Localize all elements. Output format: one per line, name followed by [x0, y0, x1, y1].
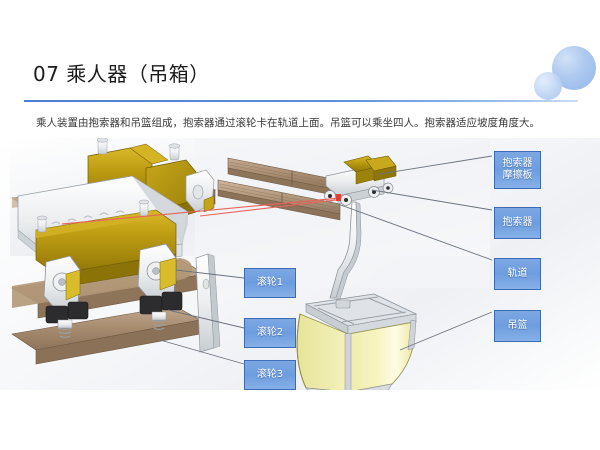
callout-roller-1[interactable]: 滚轮1 — [244, 268, 296, 298]
callout-roller-2[interactable]: 滚轮2 — [244, 318, 296, 348]
callout-cabin-label: 吊篮 — [508, 320, 528, 332]
slide-root: 07 乘人器（吊箱） 乘人装置由抱索器和吊篮组成，抱索器通过滚轮卡在轨道上面。吊… — [0, 0, 600, 450]
callout-grip[interactable]: 抱索器 — [494, 207, 541, 239]
callout-roller-3-label: 滚轮3 — [257, 369, 283, 381]
callout-grip-friction-plate[interactable]: 抱索器 摩擦板 — [494, 151, 541, 189]
cabin — [297, 294, 416, 390]
callout-roller-3[interactable]: 滚轮3 — [244, 360, 296, 390]
callout-grip-friction-plate-label-2: 摩擦板 — [503, 170, 533, 182]
callout-cabin[interactable]: 吊篮 — [494, 310, 541, 342]
callout-grip-friction-plate-label-1: 抱索器 — [503, 158, 533, 170]
decorative-circle-small-icon — [534, 72, 562, 100]
callout-track-label: 轨道 — [508, 268, 528, 280]
callout-grip-label: 抱索器 — [503, 217, 533, 229]
page-title: 07 乘人器（吊箱） — [33, 58, 210, 87]
callout-track[interactable]: 轨道 — [494, 258, 541, 290]
callout-roller-2-label: 滚轮2 — [257, 327, 283, 339]
slide-subtitle: 乘人装置由抱索器和吊篮组成，抱索器通过滚轮卡在轨道上面。吊篮可以乘坐四人。抱索器… — [36, 116, 576, 130]
title-underline-divider — [24, 100, 578, 102]
callout-roller-1-label: 滚轮1 — [257, 277, 283, 289]
